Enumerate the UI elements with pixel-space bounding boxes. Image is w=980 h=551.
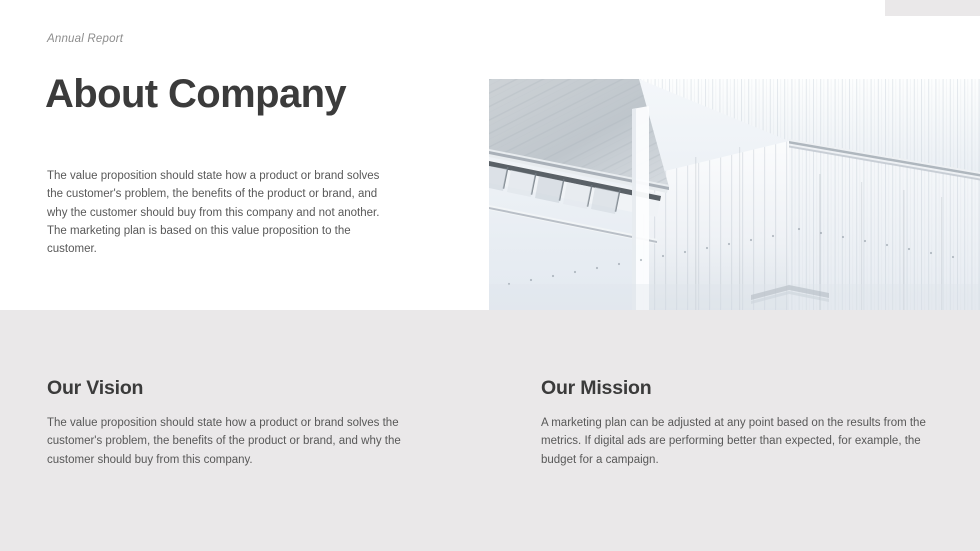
mission-heading: Our Mission — [541, 377, 931, 400]
mission-body: A marketing plan can be adjusted at any … — [541, 414, 931, 469]
slide-canvas: Annual Report About Company The value pr… — [0, 0, 980, 551]
column-mission: Our Mission A marketing plan can be adju… — [541, 377, 931, 469]
building-photo-illustration — [489, 79, 980, 310]
hero-image — [489, 79, 980, 310]
vision-heading: Our Vision — [47, 377, 417, 400]
column-vision: Our Vision The value proposition should … — [47, 377, 417, 469]
vision-body: The value proposition should state how a… — [47, 414, 417, 469]
page-title: About Company — [45, 73, 346, 115]
intro-paragraph: The value proposition should state how a… — [47, 167, 392, 258]
eyebrow-label: Annual Report — [47, 33, 123, 45]
corner-accent-tab — [885, 0, 980, 16]
